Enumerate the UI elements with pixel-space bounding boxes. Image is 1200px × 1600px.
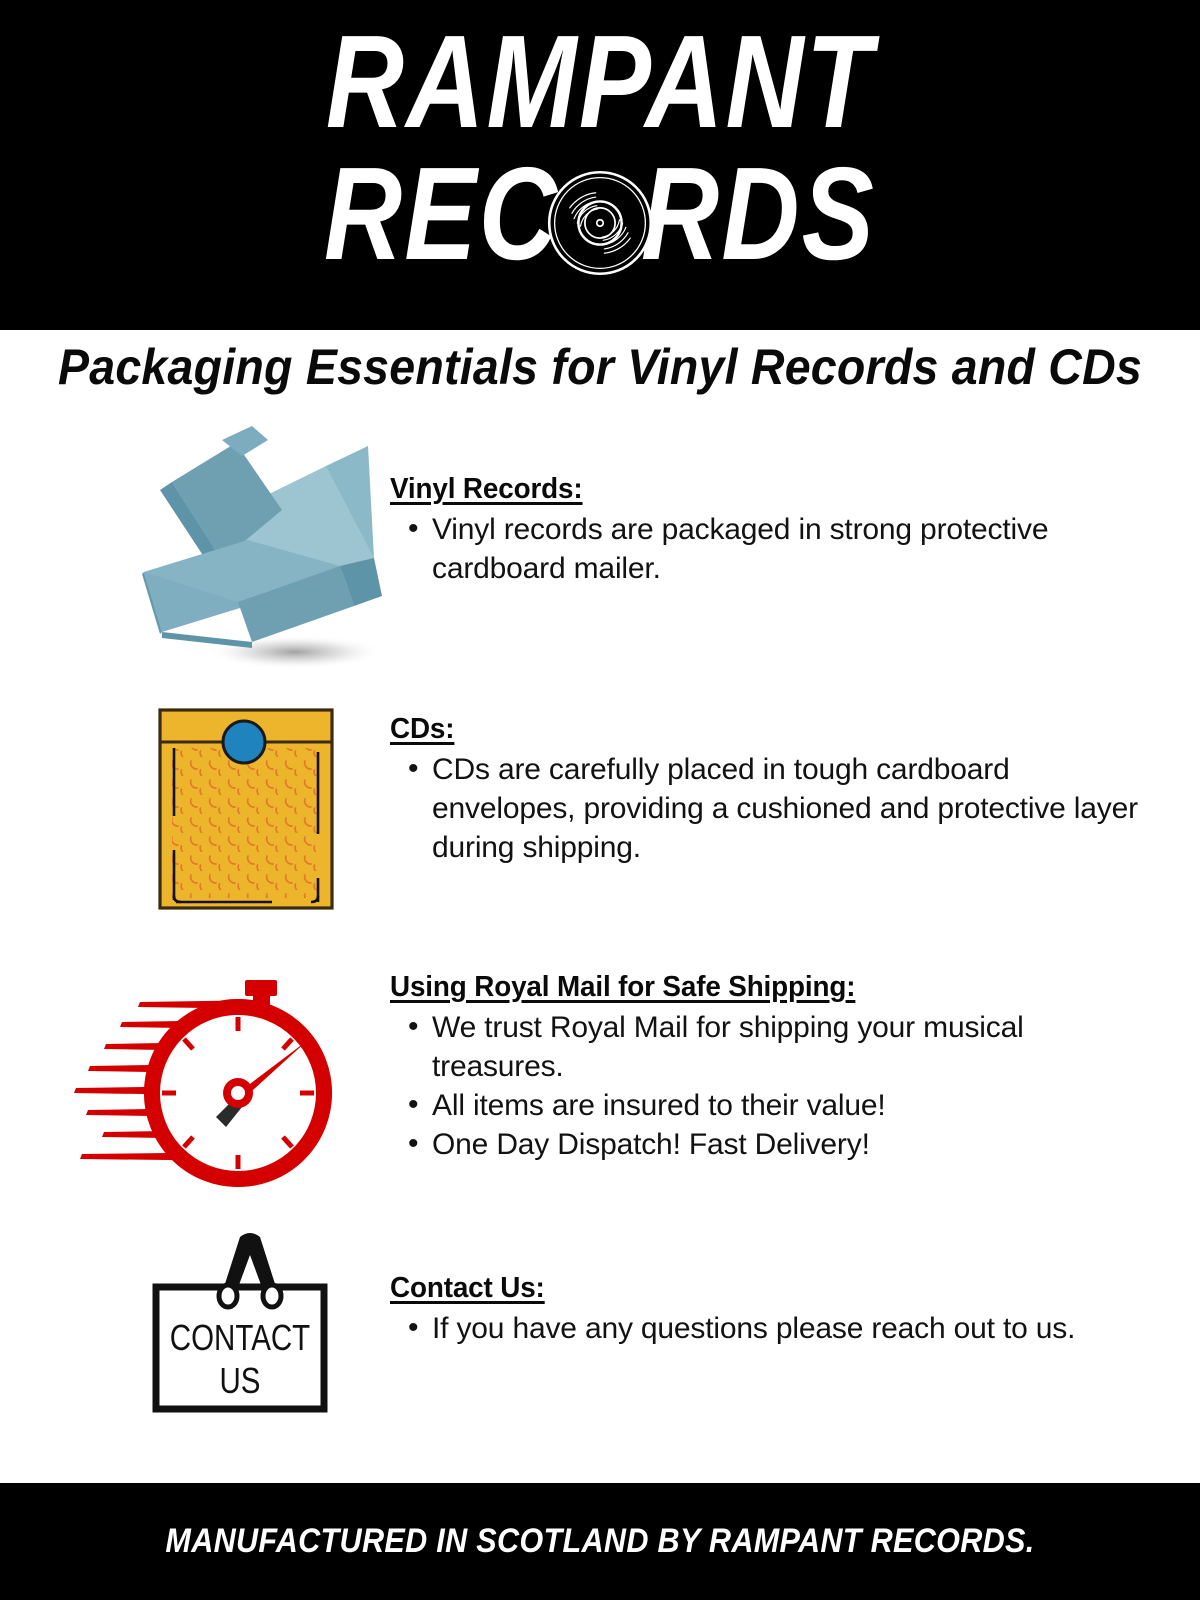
fast-stopwatch-icon [70,960,370,1200]
list-item: One Day Dispatch! Fast Delivery! [432,1125,1150,1164]
contact-bullet-list: If you have any questions please reach o… [390,1309,1150,1348]
vinyl-heading: Vinyl Records: [390,472,1120,506]
cds-bullet-list: CDs are carefully placed in tough cardbo… [390,750,1150,867]
cds-section-illustration [0,700,380,920]
padded-bubble-envelope-icon [150,700,380,920]
cds-heading: CDs: [390,712,1120,746]
royal-mail-bullet-list: We trust Royal Mail for shipping your mu… [390,1008,1150,1164]
brand-line2-prefix: REC [324,148,559,280]
section-contact-us: CONTACT US Contact Us: If you have any q… [0,1225,1200,1415]
brand-name-line-1: RAMPANT [108,16,1092,148]
list-item: If you have any questions please reach o… [432,1309,1150,1348]
vinyl-section-text: Vinyl Records: Vinyl records are package… [390,472,1150,588]
list-item: We trust Royal Mail for shipping your mu… [432,1008,1150,1086]
royal-mail-heading: Using Royal Mail for Safe Shipping: [390,970,1120,1004]
list-item: CDs are carefully placed in tough cardbo… [432,750,1150,867]
page-title: Packaging Essentials for Vinyl Records a… [42,336,1158,398]
footer-text: MANUFACTURED IN SCOTLAND BY RAMPANT RECO… [60,1519,1140,1563]
contact-section-text: Contact Us: If you have any questions pl… [390,1271,1150,1348]
brand-line2-suffix: RDS [641,148,876,280]
royal-mail-section-text: Using Royal Mail for Safe Shipping: We t… [390,970,1150,1164]
hanging-contact-us-sign-icon: CONTACT US [140,1225,360,1415]
sign-line-2-text: US [220,1360,261,1400]
vinyl-record-icon [546,169,654,277]
brand-name-line-2: REC RDS [108,148,1092,280]
contact-section-illustration: CONTACT US [0,1225,360,1415]
cds-section-text: CDs: CDs are carefully placed in tough c… [390,712,1150,867]
brand-header-band: RAMPANT REC RD [0,0,1200,330]
contact-heading: Contact Us: [390,1271,1120,1305]
sign-line-1-text: CONTACT [170,1317,310,1357]
list-item: All items are insured to their value! [432,1086,1150,1125]
footer-band: MANUFACTURED IN SCOTLAND BY RAMPANT RECO… [0,1483,1200,1600]
royal-mail-section-illustration [0,960,370,1200]
section-royal-mail: Using Royal Mail for Safe Shipping: We t… [0,960,1200,1210]
vinyl-bullet-list: Vinyl records are packaged in strong pro… [390,510,1150,588]
list-item: Vinyl records are packaged in strong pro… [432,510,1150,588]
section-cds: CDs: CDs are carefully placed in tough c… [0,700,1200,930]
section-vinyl-records: Vinyl Records: Vinyl records are package… [0,420,1200,690]
